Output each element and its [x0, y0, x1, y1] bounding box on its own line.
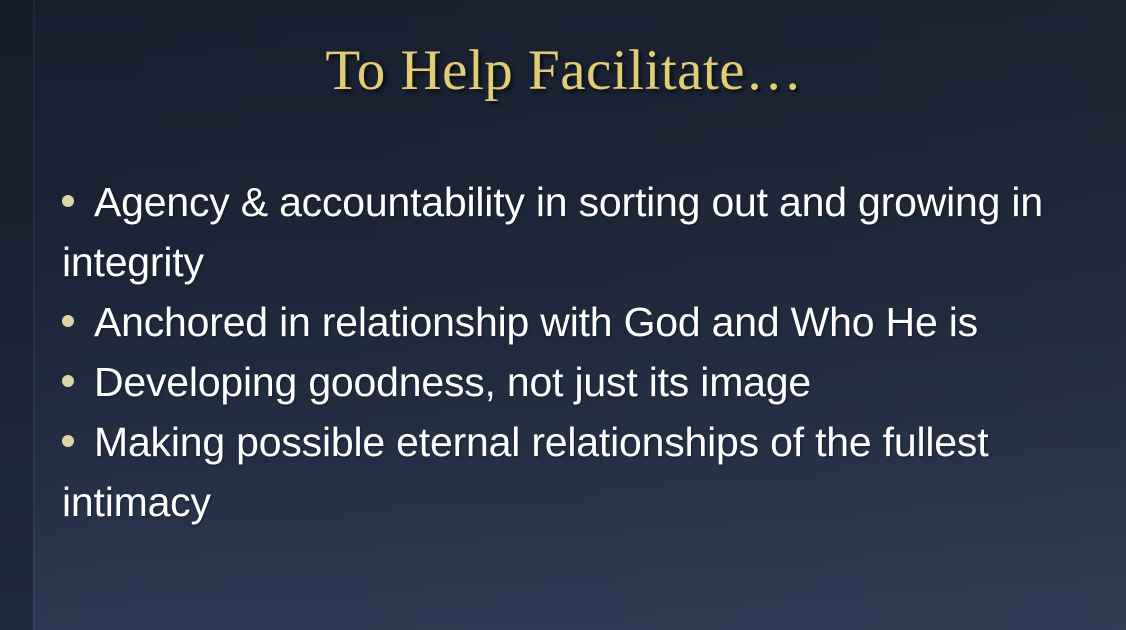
bullet-list-item: Developing goodness, not just its image — [62, 352, 1102, 412]
bullet-item-text: Agency & accountability in sorting out a… — [62, 179, 1043, 285]
presentation-slide: To Help Facilitate… Agency & accountabil… — [0, 0, 1126, 630]
bullet-dot-icon — [62, 435, 74, 447]
bullet-dot-icon — [62, 375, 74, 387]
slide-body-placeholder: Agency & accountability in sorting out a… — [62, 172, 1102, 532]
bullet-dot-icon — [62, 315, 74, 327]
slide-title: To Help Facilitate… — [325, 41, 802, 101]
bullet-list-item: Agency & accountability in sorting out a… — [62, 172, 1102, 292]
bullet-list-item: Anchored in relationship with God and Wh… — [62, 292, 1102, 352]
bullet-item-text: Making possible eternal relationships of… — [62, 419, 988, 525]
bullet-list-item: Making possible eternal relationships of… — [62, 412, 1102, 532]
bullet-item-text: Anchored in relationship with God and Wh… — [94, 299, 978, 345]
bullet-dot-icon — [62, 195, 74, 207]
left-accent-stripe — [0, 0, 33, 630]
bullet-item-text: Developing goodness, not just its image — [94, 359, 811, 405]
slide-title-placeholder: To Help Facilitate… — [34, 28, 1094, 114]
